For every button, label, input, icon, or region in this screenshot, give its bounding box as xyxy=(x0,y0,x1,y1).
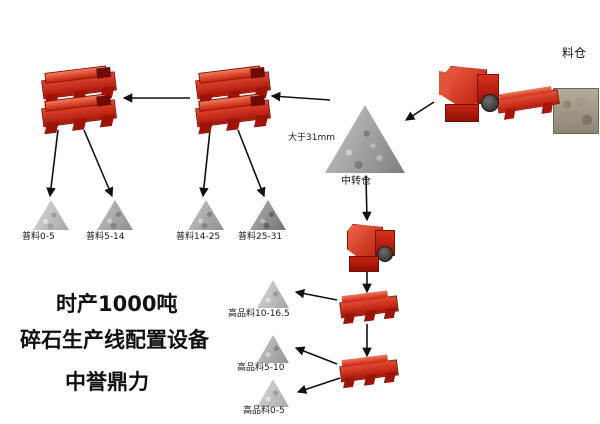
pile-5-14 xyxy=(97,200,133,230)
oversize-annotation: 大于31mm xyxy=(288,134,335,144)
pile-5-10-label: 高品料5-10 xyxy=(237,364,284,374)
pile-0-5-hp xyxy=(257,379,289,407)
screen-upper-left-b xyxy=(40,92,116,135)
transfer-bin-label: 中转仓 xyxy=(341,176,371,187)
secondary-crusher xyxy=(343,222,397,272)
pile-5-14-label: 普料5-14 xyxy=(86,233,124,243)
pile-14-25-label: 普料14-25 xyxy=(176,233,220,243)
diagram-canvas: 料仓 中转仓 大于31mm xyxy=(0,0,600,424)
pile-10-16-label: 高品料10-16.5 xyxy=(228,310,290,320)
pile-14-25 xyxy=(188,200,224,230)
flow-arrows xyxy=(0,0,600,424)
pile-25-31-label: 普料25-31 xyxy=(238,233,282,243)
pile-0-5 xyxy=(33,200,69,230)
screen-lower-1 xyxy=(338,289,397,326)
pile-5-10 xyxy=(257,335,289,363)
screen-lower-2 xyxy=(338,353,397,390)
pile-0-5-label: 普料0-5 xyxy=(22,233,55,243)
vibrating-feeder xyxy=(495,83,558,118)
pile-10-16 xyxy=(257,280,289,308)
primary-crusher xyxy=(437,64,501,122)
title-line-1: 时产1000吨 xyxy=(56,288,177,318)
raw-material-silo xyxy=(553,88,599,134)
screen-mid-left-b xyxy=(194,92,270,135)
title-line-2: 碎石生产线配置设备 xyxy=(20,324,209,354)
pile-0-5-hp-label: 高品料0-5 xyxy=(243,407,285,417)
pile-25-31 xyxy=(250,200,286,230)
transfer-pile xyxy=(325,105,405,173)
silo-label: 料仓 xyxy=(562,44,586,61)
title-line-3: 中誉鼎力 xyxy=(65,366,149,396)
